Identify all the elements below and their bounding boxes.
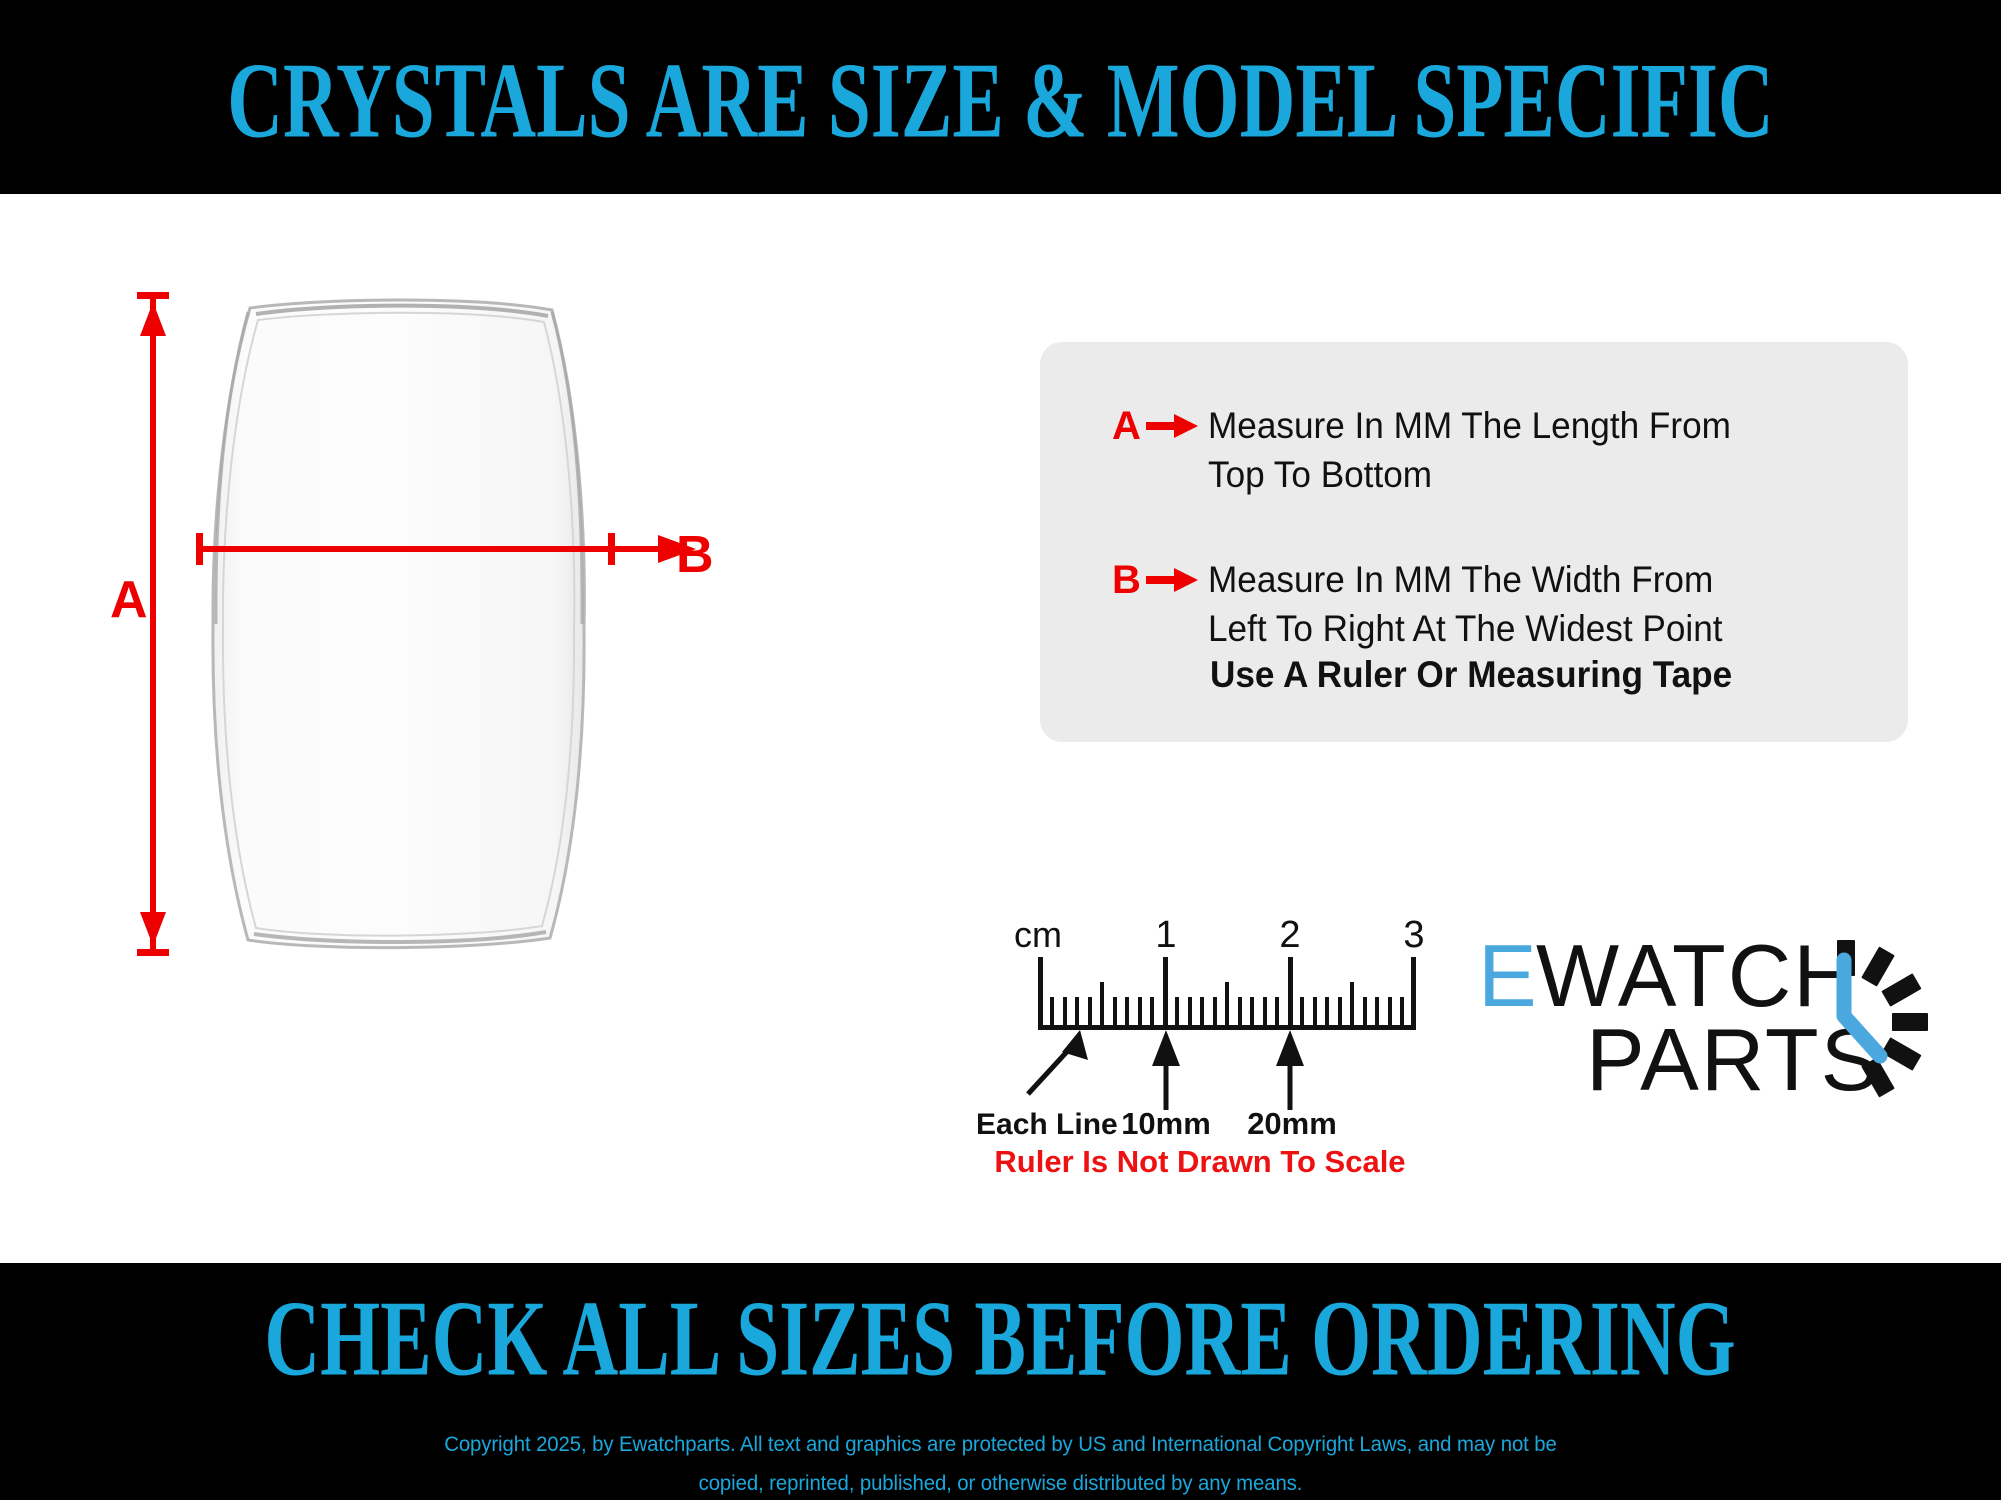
each-line-label-1: Each Line: [976, 1108, 1118, 1141]
instruction-marker-a: A: [1112, 406, 1146, 446]
ruler-illustration: cm 1 2 3: [970, 894, 1430, 1214]
logo-letter-e: E: [1478, 926, 1539, 1025]
ten-mm-label: 10mm: [1121, 1106, 1211, 1141]
instruction-text-a: Measure In MM The Length From Top To Bot…: [1208, 402, 1731, 500]
ruler-tick-label-3: 3: [1403, 914, 1424, 956]
main-content-area: A B A Measur: [0, 194, 2001, 1263]
instruction-panel: A Measure In MM The Length From Top To B…: [1040, 342, 1908, 742]
dimension-label-b: B: [676, 529, 714, 581]
watch-crystal-illustration: [204, 294, 594, 954]
copyright-line-1: Copyright 2025, by Ewatchparts. All text…: [444, 1426, 1557, 1465]
right-arrow-icon: [1146, 567, 1200, 598]
ten-mm-pointer: [1152, 1030, 1180, 1110]
ruler-unit-label: cm: [1014, 914, 1062, 955]
ruler-tick-label-1: 1: [1155, 914, 1176, 956]
twenty-mm-label: 20mm: [1247, 1106, 1337, 1141]
ewatchparts-logo: E WATCH PARTS: [1478, 914, 1948, 1114]
use-ruler-note: Use A Ruler Or Measuring Tape: [1210, 654, 1732, 696]
top-banner: CRYSTALS ARE SIZE & MODEL SPECIFIC: [0, 0, 2001, 194]
instruction-row-a: A Measure In MM The Length From Top To B…: [1112, 402, 1758, 500]
ruler-tick-label-2: 2: [1279, 914, 1300, 956]
each-line-pointer: [1028, 1030, 1088, 1094]
bottom-banner: CHECK ALL SIZES BEFORE ORDERING Copyrigh…: [0, 1263, 2001, 1500]
crystal-diagram: A B: [120, 284, 940, 1004]
bottom-banner-headline: CHECK ALL SIZES BEFORE ORDERING: [265, 1285, 1736, 1393]
copyright-notice: Copyright 2025, by Ewatchparts. All text…: [444, 1426, 1557, 1500]
top-banner-headline: CRYSTALS ARE SIZE & MODEL SPECIFIC: [227, 46, 1773, 154]
horizontal-dimension-arrow-b: [196, 524, 716, 574]
ruler-disclaimer: Ruler Is Not Drawn To Scale: [970, 1144, 1430, 1180]
logo-word-parts: PARTS: [1586, 1010, 1881, 1109]
instruction-text-b: Measure In MM The Width From Left To Rig…: [1208, 556, 1723, 654]
instruction-row-b: B Measure In MM The Width From Left To R…: [1112, 556, 1750, 654]
instruction-marker-b: B: [1112, 560, 1146, 600]
copyright-line-2: copied, reprinted, published, or otherwi…: [444, 1465, 1557, 1500]
right-arrow-icon: [1146, 413, 1200, 444]
dimension-label-a: A: [110, 574, 148, 626]
twenty-mm-pointer: [1276, 1030, 1304, 1110]
